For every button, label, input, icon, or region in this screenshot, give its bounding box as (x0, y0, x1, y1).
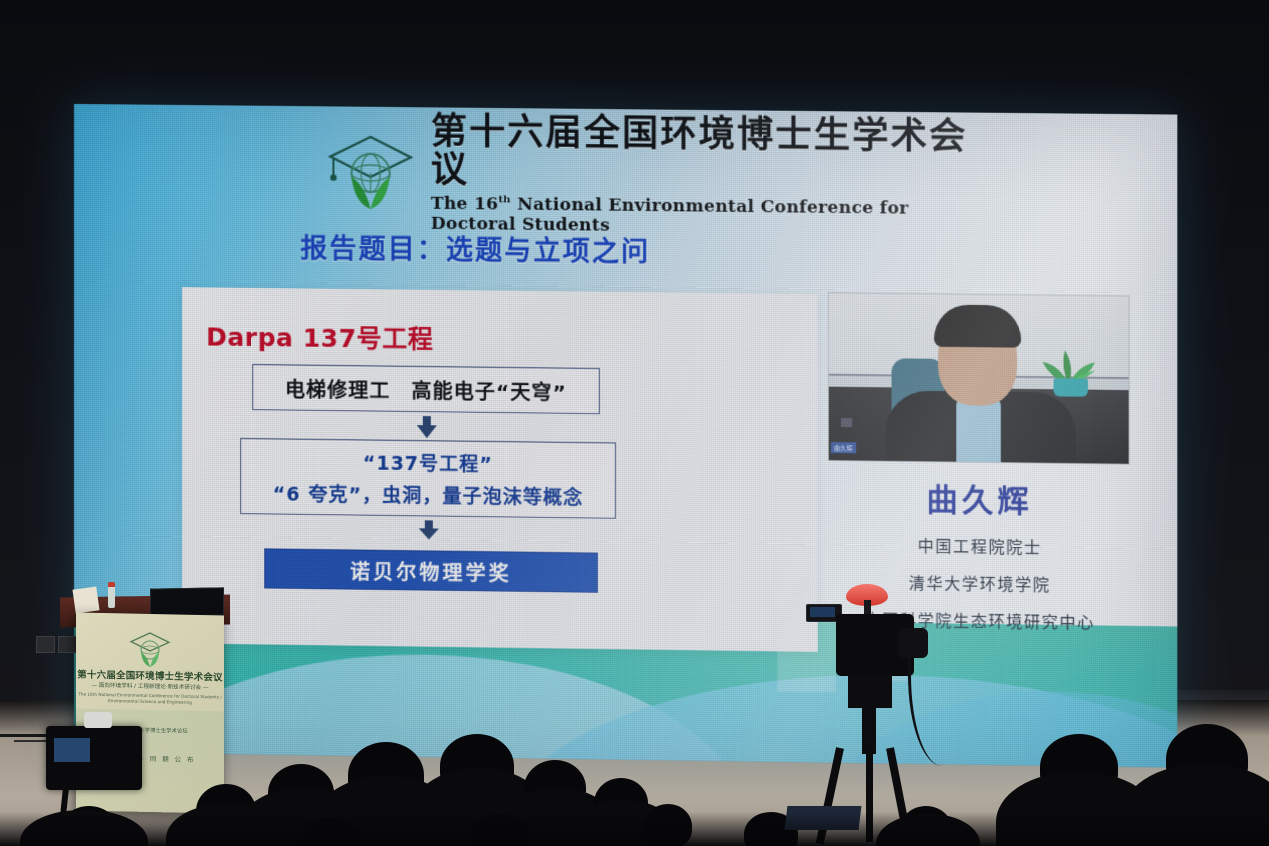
speaker-caption: 曲久辉 中国工程院院士 清华大学环境学院 中国科学院生态环境研究中心 (828, 473, 1132, 634)
content-box-2-line1: “137号工程” (363, 448, 493, 477)
speaker-name: 曲久辉 (828, 473, 1132, 522)
graduation-cap-globe-leaf-logo (324, 130, 416, 215)
speaker-shirt (956, 397, 1001, 464)
content-box-1-text: 电梯修理工 高能电子“天穹” (285, 373, 567, 405)
video-feed-speaker: 曲久辉 (828, 292, 1130, 465)
content-box-2: “137号工程” “6 夸克”，虫洞，量子泡沫等概念 (240, 438, 616, 519)
content-box-3-text: 诺贝尔物理学奖 (350, 555, 512, 586)
water-bottle-cap (108, 582, 115, 587)
slide-topic-line: 报告题目：选题与立项之问 (300, 226, 650, 269)
slide-header: 第十六届全国环境博士生学术会议 The 16th National Enviro… (324, 126, 969, 225)
stage-monitor (150, 587, 224, 616)
content-box-3-highlight: 诺贝尔物理学奖 (264, 548, 598, 592)
foreground-shadow (0, 812, 1269, 846)
graduation-cap-globe-leaf-logo (128, 630, 172, 669)
paper-sheet (72, 586, 99, 613)
standee-subtitle: — 面向环境学科 / 工程新理论·新技术研讨会 — (76, 680, 224, 691)
video-ui-badge (841, 418, 852, 427)
content-box-1: 电梯修理工 高能电子“天穹” (252, 364, 600, 414)
content-box-2-line2: “6 夸克”，虫洞，量子泡沫等概念 (273, 479, 583, 510)
video-name-tag: 曲久辉 (831, 442, 856, 453)
section-label-darpa: Darpa 137号工程 (206, 317, 433, 356)
plant-pot (1054, 378, 1088, 397)
water-bottle (108, 586, 115, 608)
speaker-affiliation-1: 中国工程院院士 (828, 531, 1132, 559)
led-display-screen: 第十六届全国环境博士生学术会议 The 16th National Enviro… (74, 104, 1177, 768)
conference-hall-scene: 第十六届全国环境博士生学术会议 The 16th National Enviro… (0, 0, 1269, 846)
conference-title-cn: 第十六届全国环境博士生学术会议 (431, 113, 970, 195)
wall-socket-2 (58, 636, 77, 653)
wall-socket-1 (36, 636, 55, 653)
camera-viewfinder-screen (810, 607, 835, 617)
